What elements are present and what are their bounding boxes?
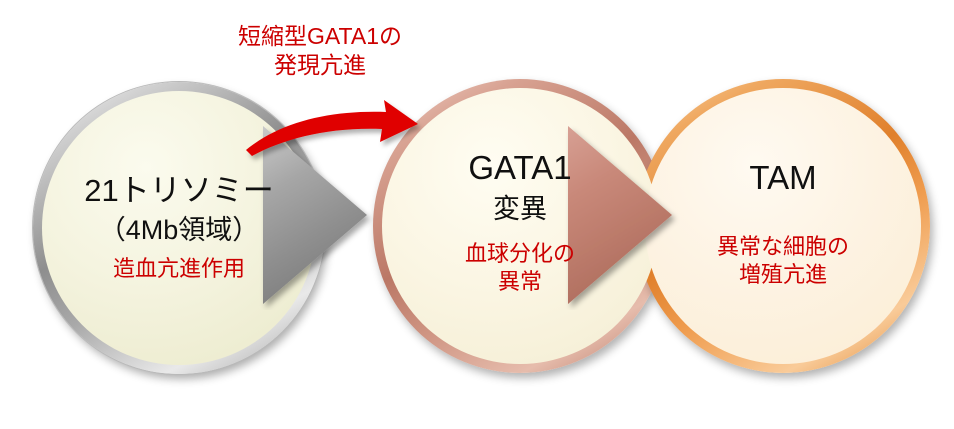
node-trisomy21-subtitle: （4Mb領域） — [99, 215, 260, 245]
diagram-canvas: 21トリソミー （4Mb領域） 造血亢進作用 GATA1 変異 血球分化の 異常… — [0, 0, 954, 429]
annotation-gata1-overexpression: 短縮型GATA1の 発現亢進 — [185, 22, 455, 81]
node-tam-description-line1: 異常な細胞の — [717, 235, 849, 260]
node-tam[interactable]: TAM 異常な細胞の 増殖亢進 — [636, 79, 930, 373]
node-trisomy21-description: 造血亢進作用 — [113, 257, 245, 282]
node-gata1-mutation-description-line2: 異常 — [498, 270, 542, 295]
node-gata1-mutation-subtitle: 変異 — [493, 194, 547, 224]
node-tam-title: TAM — [749, 160, 816, 197]
node-gata1-mutation-description-line1: 血球分化の — [465, 242, 575, 267]
annotation-line-2: 発現亢進 — [185, 51, 455, 80]
annotation-line-1: 短縮型GATA1の — [185, 22, 455, 51]
node-trisomy21-title: 21トリソミー — [84, 174, 273, 209]
node-tam-description-line2: 増殖亢進 — [739, 263, 827, 288]
node-gata1-mutation-title: GATA1 — [468, 150, 571, 187]
